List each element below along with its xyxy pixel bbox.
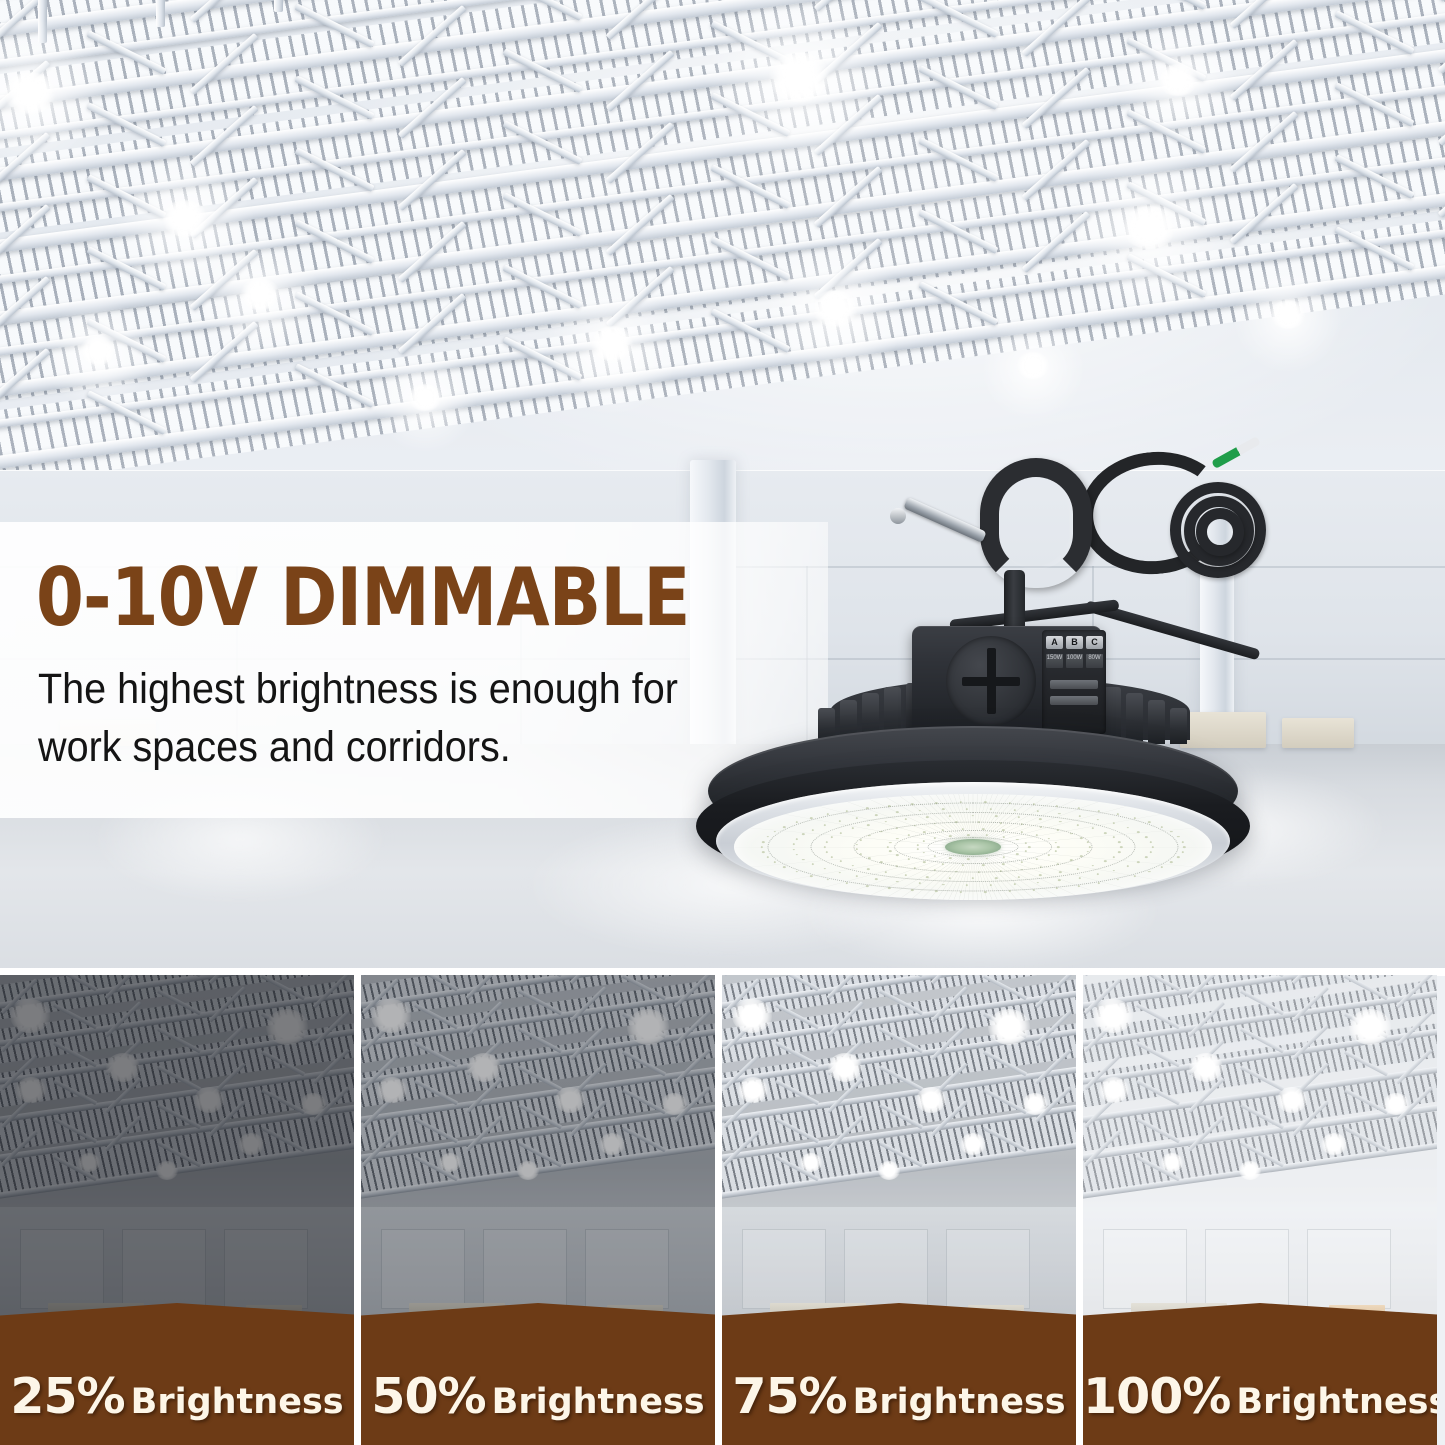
thumb-lamp: [1349, 1009, 1391, 1045]
thumb-lamp: [878, 1161, 900, 1180]
thumb-lamp: [156, 1161, 178, 1180]
brightness-percent: 100%: [1083, 1368, 1230, 1425]
led-chip: [1170, 861, 1172, 863]
led-chip: [1177, 856, 1179, 858]
led-lens: [734, 794, 1212, 900]
brightness-panel-50[interactable]: 50%Brightness: [361, 975, 715, 1445]
led-chip: [1161, 866, 1163, 868]
led-chip: [1170, 831, 1172, 833]
ceiling-lamp: [1122, 206, 1176, 249]
thumb-lamp: [732, 999, 772, 1033]
wattage-b: 100W: [1066, 654, 1083, 668]
thumb-lamp: [988, 1009, 1030, 1045]
dip-switch-upper[interactable]: [1050, 680, 1098, 689]
brightness-label: Brightness: [853, 1382, 1066, 1422]
thumb-web: [1, 975, 38, 976]
heatsink-fin: [1126, 693, 1143, 744]
thumb-lamp: [238, 1133, 264, 1155]
ceiling-lamp: [162, 200, 208, 237]
truss-post: [274, 0, 283, 12]
thumb-lamp: [1383, 1093, 1409, 1115]
thumb-lamp: [1239, 1161, 1261, 1180]
thumb-lamp: [517, 1161, 539, 1180]
led-chip: [766, 856, 768, 858]
brightness-comparison-grid: 25%Brightness 50%Brightness: [0, 975, 1445, 1445]
page-title: 0-10V DIMMABLE: [36, 558, 690, 638]
thumb-lamp: [467, 1053, 501, 1082]
safety-latch: [903, 497, 986, 543]
thumb-lamp: [377, 1077, 407, 1103]
thumb-lamp: [1189, 1053, 1223, 1082]
led-chip: [827, 879, 829, 881]
thumb-lamp: [1321, 1133, 1347, 1155]
thumb-lamp: [10, 999, 50, 1033]
thumb-lamp: [1093, 999, 1133, 1033]
thumb-lamp: [194, 1087, 224, 1113]
brightness-panel-100[interactable]: 100%Brightness: [1083, 975, 1437, 1445]
ceiling-lamp: [768, 52, 830, 102]
thumb-web: [723, 975, 760, 976]
brightness-label: Brightness: [131, 1382, 344, 1422]
ceiling-lamp: [1016, 352, 1050, 379]
wattage-c: 80W: [1086, 654, 1103, 668]
heatsink-fin: [1170, 708, 1187, 744]
wattage-a: 150W: [1046, 654, 1063, 668]
thumb-lamp: [555, 1087, 585, 1113]
ground-wire-icon: [1211, 436, 1261, 469]
thumb-lamp: [1277, 1087, 1307, 1113]
ceiling-lamp: [240, 278, 280, 310]
brightness-percent: 75%: [732, 1368, 846, 1425]
led-chip: [1182, 851, 1184, 853]
ceiling-lamp: [1270, 300, 1306, 329]
thumb-lamp: [78, 1153, 100, 1172]
selector-key-c[interactable]: C: [1086, 636, 1103, 649]
led-chip: [783, 866, 785, 868]
brightness-label: Brightness: [492, 1382, 705, 1422]
thumb-lamp: [106, 1053, 140, 1082]
led-chip: [766, 836, 768, 838]
brightness-percent: 50%: [371, 1368, 485, 1425]
cable-coil-inner: [1196, 508, 1244, 556]
thumb-lamp: [738, 1077, 768, 1103]
thumb-lamp: [627, 1009, 669, 1045]
cross-plus-icon-vertical: [987, 648, 996, 714]
thumb-lamp: [439, 1153, 461, 1172]
led-chip: [1148, 871, 1150, 873]
ceiling-lamp: [812, 290, 858, 327]
truss-post: [156, 0, 165, 27]
thumb-lamp: [16, 1077, 46, 1103]
ceiling-lamp: [4, 72, 56, 114]
ceiling-lamp: [1158, 64, 1198, 96]
led-chip: [762, 841, 764, 843]
thumb-lamp: [960, 1133, 986, 1155]
brightness-panel-25[interactable]: 25%Brightness: [0, 975, 354, 1445]
panel-divider-2: [715, 975, 722, 1445]
wattage-row: 150W 100W 80W: [1046, 654, 1103, 668]
panel-divider-1: [354, 975, 361, 1445]
thumb-lamp: [266, 1009, 308, 1045]
thumb-lamp: [1161, 1153, 1183, 1172]
led-chip: [1182, 841, 1184, 843]
abc-key-row[interactable]: A B C: [1046, 636, 1103, 649]
led-chip: [1177, 836, 1179, 838]
thumb-web: [1084, 975, 1121, 976]
thumb-lamp: [800, 1153, 822, 1172]
mounting-hook: [980, 458, 1092, 588]
thumb-lamp: [300, 1093, 326, 1115]
thumb-lamp: [916, 1087, 946, 1113]
thumb-lamp: [1099, 1077, 1129, 1103]
brightness-caption-50: 50%Brightness: [361, 1368, 715, 1425]
led-chip: [762, 851, 764, 853]
led-high-bay-fixture: A B C 150W 100W 80W: [650, 430, 1290, 950]
ceiling-lamp: [408, 384, 442, 411]
led-chip: [773, 861, 775, 863]
thumb-lamp: [371, 999, 411, 1033]
thumb-lamp: [1022, 1093, 1048, 1115]
thumb-lamp: [599, 1133, 625, 1155]
latch-pin: [890, 508, 906, 524]
product-marketing-image: 0-10V DIMMABLE The highest brightness is…: [0, 0, 1445, 1445]
selector-key-a[interactable]: A: [1046, 636, 1063, 649]
thumb-web: [362, 975, 399, 976]
lens-center-module: [945, 839, 1001, 855]
thumb-lamp: [828, 1053, 862, 1082]
led-chip: [1117, 879, 1119, 881]
thumb-lamp: [661, 1093, 687, 1115]
brightness-panel-75[interactable]: 75%Brightness: [722, 975, 1076, 1445]
dip-switch-lower[interactable]: [1050, 696, 1098, 705]
selector-key-b[interactable]: B: [1066, 636, 1083, 649]
brightness-label: Brightness: [1236, 1382, 1437, 1422]
brightness-caption-25: 25%Brightness: [0, 1368, 354, 1425]
brightness-caption-75: 75%Brightness: [722, 1368, 1076, 1425]
panel-divider-3: [1076, 975, 1083, 1445]
ceiling-lamp: [80, 336, 116, 365]
brightness-caption-100: 100%Brightness: [1083, 1368, 1437, 1425]
led-chip: [773, 831, 775, 833]
led-chip: [1161, 826, 1163, 828]
led-chip: [1098, 882, 1100, 884]
ceiling-lamp: [590, 326, 634, 361]
heatsink-fin: [1148, 700, 1165, 744]
led-chip: [795, 871, 797, 873]
brightness-percent: 25%: [10, 1368, 124, 1425]
hero-warehouse-scene: 0-10V DIMMABLE The highest brightness is…: [0, 0, 1445, 972]
